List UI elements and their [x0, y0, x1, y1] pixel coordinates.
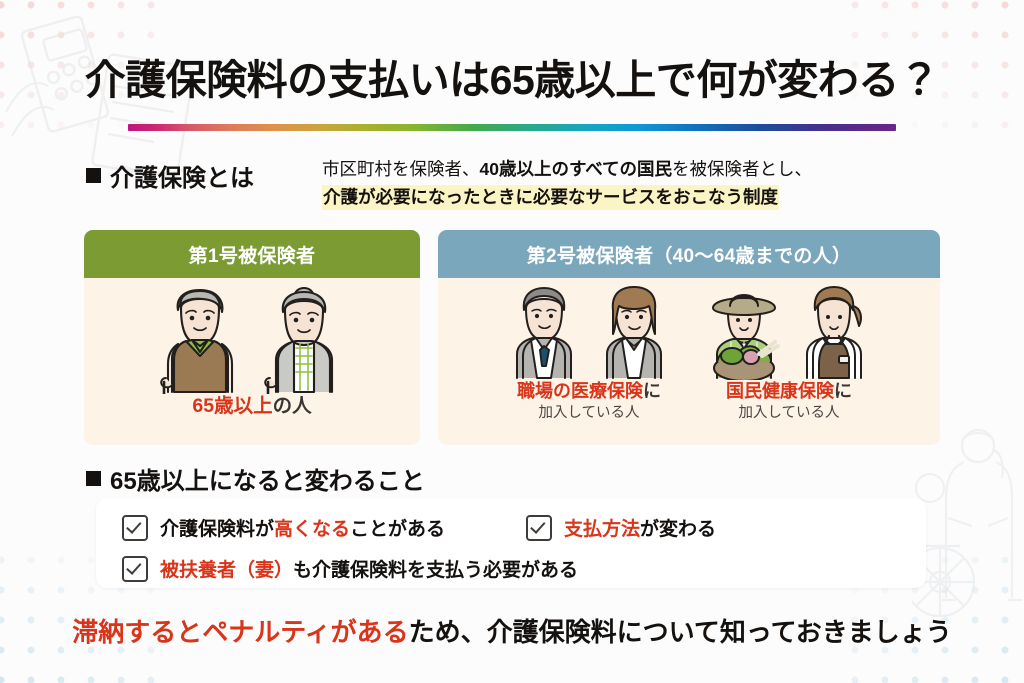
group-national-health-insurance: 国民健康保険に 加入している人 [699, 284, 879, 422]
farmer-figure [699, 284, 789, 380]
definition-block: 市区町村を保険者、40歳以上のすべての国民を被保険者とし、 介護が必要になったと… [322, 155, 922, 212]
definition-highlighted-text: 介護が必要になったときに必要なサービスをおこなう制度 [322, 185, 779, 210]
caption-sub-line: 加入している人 [517, 404, 661, 422]
infographic-page: 介護保険料の支払いは65歳以上で何が変わる？ 介護保険とは 市区町村を保険者、4… [0, 0, 1024, 683]
rainbow-divider [128, 124, 896, 131]
square-bullet-icon [86, 471, 101, 486]
businessman-figure [499, 284, 589, 380]
checklist-item-label: 支払方法が変わる [564, 514, 716, 541]
conclusion-plain-text: ため、介護保険料について知っておきましょう [409, 617, 952, 647]
definition-text-plain-b: を被保険者とし、 [672, 159, 812, 179]
checkbox-checked-icon[interactable] [122, 515, 148, 541]
card-insured-category-1: 第1号被保険者 [84, 230, 420, 445]
section-heading-what-is-insurance: 介護保険とは [86, 158, 254, 193]
group-workplace-insurance: 職場の医療保険に 加入している人 [499, 284, 679, 422]
checkbox-checked-icon[interactable] [122, 556, 148, 582]
checklist-text-plain-b: も介護保険料を支払う必要がある [293, 560, 578, 581]
definition-line-1: 市区町村を保険者、40歳以上のすべての国民を被保険者とし、 [322, 155, 922, 183]
caption-main-line: 職場の医療保険に [517, 380, 661, 403]
caption-plain-text: に [834, 381, 852, 401]
wheelchair-caregiver-watermark [912, 422, 1024, 627]
definition-line-2: 介護が必要になったときに必要なサービスをおこなう制度 [322, 183, 922, 211]
caption-plain-text: に [643, 381, 661, 401]
caption-red-text: 65歳以上 [192, 395, 272, 417]
card-1-header: 第1号被保険者 [84, 230, 420, 278]
caption-red-text: 職場の医療保険 [517, 381, 643, 401]
checklist-item-label: 被扶養者（妻）も介護保険料を支払う必要がある [160, 555, 578, 582]
checklist-item-payment-method[interactable]: 支払方法が変わる [526, 514, 716, 541]
page-title: 介護保険料の支払いは65歳以上で何が変わる？ [0, 46, 1024, 106]
section-heading-label: 65歳以上になると変わること [110, 461, 425, 496]
checklist-text-red: 高くなる [274, 519, 350, 540]
checklist-text-red: 支払方法 [564, 519, 640, 540]
shop-worker-figure [789, 284, 879, 380]
caption-workplace-insurance: 職場の医療保険に 加入している人 [517, 380, 661, 422]
caption-national-health-insurance: 国民健康保険に 加入している人 [726, 380, 852, 422]
checklist-text-plain-b: が変わる [640, 519, 716, 540]
definition-text-bold: 40歳以上のすべての国民 [480, 159, 673, 179]
caption-red-text: 国民健康保険 [726, 381, 834, 401]
caption-elderly-65-plus: 65歳以上の人 [192, 394, 311, 418]
figure-pair-self-employed [699, 284, 879, 380]
elderly-woman-with-cane-figure [252, 286, 356, 394]
caption-plain-text: の人 [273, 395, 312, 417]
conclusion-message: 滞納するとペナルティがあるため、介護保険料について知っておきましょう [0, 612, 1024, 649]
caption-main-line: 65歳以上の人 [192, 394, 311, 418]
checklist-text-plain-b: ことがある [350, 519, 445, 540]
checklist-text-red: 被扶養者（妻） [160, 560, 293, 581]
card-2-header: 第2号被保険者（40〜64歳までの人） [438, 230, 940, 278]
checkbox-checked-icon[interactable] [526, 515, 552, 541]
figure-pair-elderly [148, 286, 356, 394]
businesswoman-figure [589, 284, 679, 380]
group-elderly-65-plus: 65歳以上の人 [148, 286, 356, 418]
checklist-item-dependent-spouse[interactable]: 被扶養者（妻）も介護保険料を支払う必要がある [122, 555, 578, 582]
card-2-body: 職場の医療保険に 加入している人 [438, 278, 940, 445]
figure-pair-office-workers [499, 284, 679, 380]
square-bullet-icon [86, 168, 101, 183]
definition-text-plain-a: 市区町村を保険者、 [322, 159, 480, 179]
checklist-text-plain-a: 介護保険料が [160, 519, 274, 540]
card-insured-category-2: 第2号被保険者（40〜64歳までの人） [438, 230, 940, 445]
section-heading-changes-at-65: 65歳以上になると変わること [86, 461, 425, 496]
caption-main-line: 国民健康保険に [726, 380, 852, 403]
conclusion-red-text: 滞納するとペナルティがある [72, 617, 408, 647]
elderly-man-with-cane-figure [148, 286, 252, 394]
section-heading-label: 介護保険とは [110, 158, 254, 193]
checklist-item-premium-increase[interactable]: 介護保険料が高くなることがある [122, 514, 445, 541]
checklist-item-label: 介護保険料が高くなることがある [160, 514, 445, 541]
changes-checklist-panel: 介護保険料が高くなることがある 支払方法が変わる 被扶養者（妻）も介護保険料を支… [96, 498, 926, 588]
caption-sub-line: 加入している人 [726, 404, 852, 422]
card-1-body: 65歳以上の人 [84, 278, 420, 445]
